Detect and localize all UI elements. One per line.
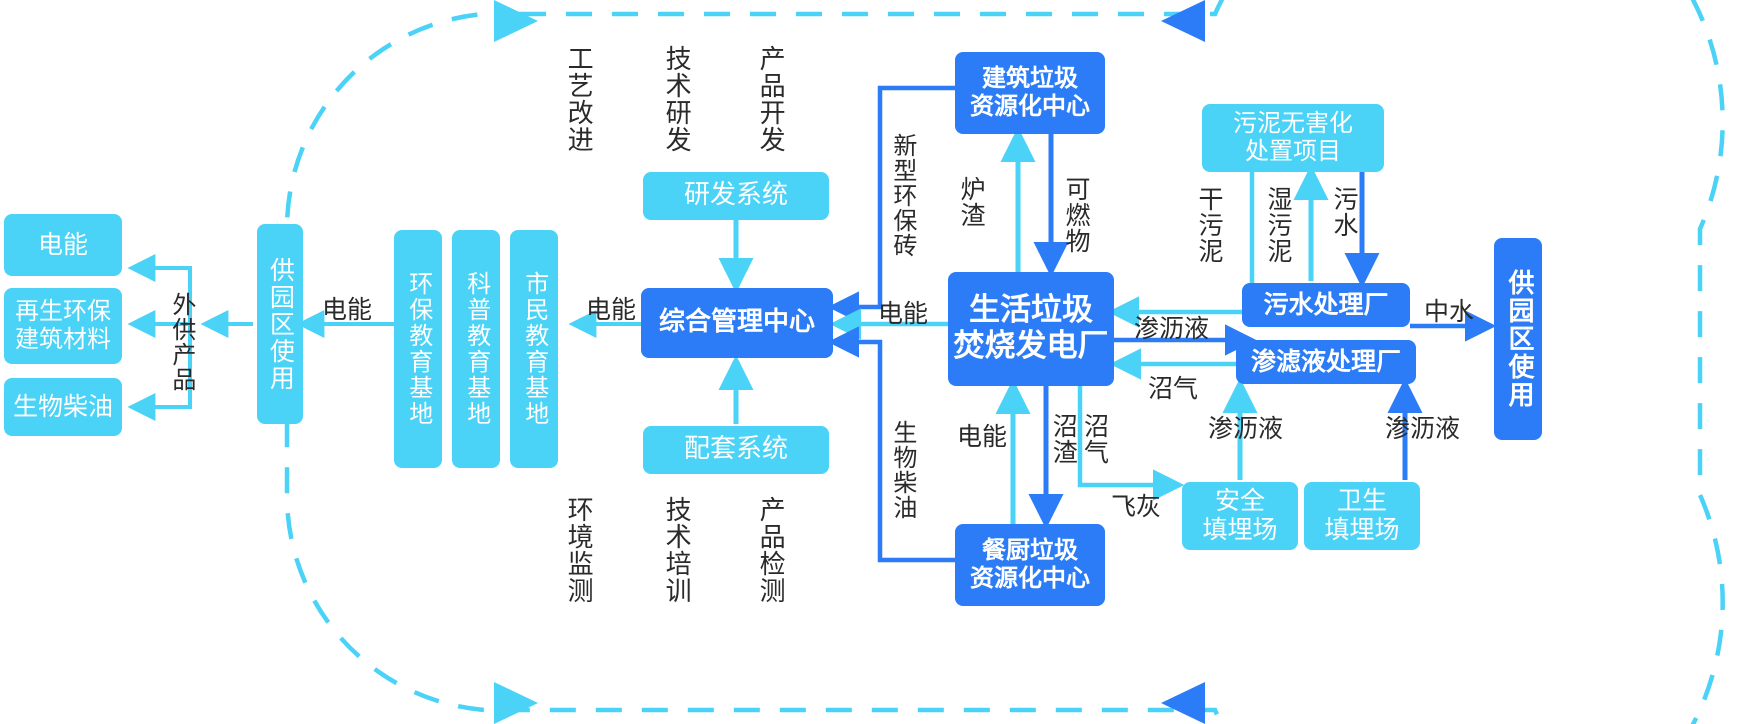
node-rd-system[interactable]: 研发系统 xyxy=(643,172,829,220)
label-power-to-education: 电能 xyxy=(586,296,636,324)
node-label: 安全 填埋场 xyxy=(1202,487,1277,545)
node-citizen-education-base[interactable]: 市民教育基地 xyxy=(510,230,558,468)
boundary-arrow-bottom-right xyxy=(1161,682,1205,724)
boundary-arrow-top-right xyxy=(1161,0,1205,42)
node-science-education-base[interactable]: 科普教育基地 xyxy=(452,230,500,468)
node-kitchen-waste-center[interactable]: 餐厨垃圾 资源化中心 xyxy=(955,524,1105,606)
node-leachate-treatment-plant[interactable]: 渗滤液处理厂 xyxy=(1236,340,1416,384)
label-power-to-park: 电能 xyxy=(322,296,372,324)
label-bio-diesel-flow: 生物柴油 xyxy=(889,420,916,520)
node-label: 供园区使用 xyxy=(266,257,295,392)
recycling-park-flow-diagram: 电能 再生环保 建筑材料 生物柴油 外供产品 供园区使用 电能 环保教育基地 科… xyxy=(0,0,1740,724)
label-product-development: 产品开发 xyxy=(755,45,784,153)
label-new-eco-brick: 新型环保砖 xyxy=(889,133,916,258)
label-power-from-kitchen: 电能 xyxy=(957,423,1007,451)
node-msw-incineration-plant[interactable]: 生活垃圾 焚烧发电厂 xyxy=(948,272,1114,386)
node-sanitary-landfill[interactable]: 卫生 填埋场 xyxy=(1304,482,1420,550)
node-park-use-left[interactable]: 供园区使用 xyxy=(257,224,303,424)
label-wet-sludge: 湿污泥 xyxy=(1264,186,1292,264)
node-env-education-base[interactable]: 环保教育基地 xyxy=(394,230,442,468)
boundary-arrow-top-left xyxy=(494,0,538,42)
node-sludge-harmless-project[interactable]: 污泥无害化 处置项目 xyxy=(1202,104,1384,172)
label-combustibles: 可燃物 xyxy=(1062,176,1090,254)
node-construction-waste-center[interactable]: 建筑垃圾 资源化中心 xyxy=(955,52,1105,134)
label-environmental-monitoring: 环境监测 xyxy=(563,496,592,604)
label-product-testing: 产品检测 xyxy=(755,496,784,604)
node-label: 渗滤液处理厂 xyxy=(1251,348,1401,377)
node-integrated-management-center[interactable]: 综合管理中心 xyxy=(641,288,833,358)
node-support-system[interactable]: 配套系统 xyxy=(643,426,829,474)
label-biogas-residue: 沼气 沼渣 xyxy=(1048,413,1111,465)
label-biogas-back: 沼气 xyxy=(1148,375,1198,403)
node-label: 餐厨垃圾 资源化中心 xyxy=(970,537,1090,592)
boundary-arrow-bottom-left xyxy=(494,682,538,724)
node-electric-energy[interactable]: 电能 xyxy=(4,214,122,276)
label-leachate-safe: 渗沥液 xyxy=(1208,415,1283,443)
node-label: 研发系统 xyxy=(684,181,788,211)
node-label: 电能 xyxy=(38,231,88,260)
wire-dry-sludge-to-plant xyxy=(1114,170,1252,312)
label-power-from-plant: 电能 xyxy=(878,300,928,328)
node-label: 污水处理厂 xyxy=(1263,291,1388,320)
label-dry-sludge: 干污泥 xyxy=(1195,186,1223,264)
node-label: 建筑垃圾 资源化中心 xyxy=(970,65,1090,120)
label-leachate-to-plant: 渗沥液 xyxy=(1134,315,1209,343)
node-label: 污泥无害化 处置项目 xyxy=(1233,110,1353,165)
node-label: 生物柴油 xyxy=(13,393,113,422)
label-sewage: 污水 xyxy=(1330,186,1358,238)
node-label: 卫生 填埋场 xyxy=(1324,487,1399,545)
node-label: 综合管理中心 xyxy=(659,308,815,338)
label-slag: 炉渣 xyxy=(957,176,985,228)
node-bio-diesel[interactable]: 生物柴油 xyxy=(4,378,122,436)
label-external-products: 外供产品 xyxy=(168,292,195,392)
node-label: 供园区使用 xyxy=(1503,269,1533,409)
node-label: 生活垃圾 焚烧发电厂 xyxy=(954,293,1109,364)
node-label: 环保教育基地 xyxy=(404,271,432,427)
node-label: 市民教育基地 xyxy=(520,271,548,427)
label-technology-rd: 技术研发 xyxy=(661,45,690,153)
label-reclaimed-water: 中水 xyxy=(1424,298,1474,326)
node-label: 再生环保 建筑材料 xyxy=(15,298,111,353)
label-technical-training: 技术培训 xyxy=(661,496,690,604)
node-label: 配套系统 xyxy=(684,435,788,465)
label-leachate-sanitary: 渗沥液 xyxy=(1385,415,1460,443)
node-sewage-treatment-plant[interactable]: 污水处理厂 xyxy=(1242,283,1410,327)
label-fly-ash: 飞灰 xyxy=(1111,493,1161,521)
node-recycled-building-material[interactable]: 再生环保 建筑材料 xyxy=(4,288,122,364)
node-label: 科普教育基地 xyxy=(462,271,490,427)
node-park-use-right[interactable]: 供园区使用 xyxy=(1494,238,1542,440)
node-safe-landfill[interactable]: 安全 填埋场 xyxy=(1182,482,1298,550)
label-process-improvement: 工艺改进 xyxy=(563,45,592,153)
